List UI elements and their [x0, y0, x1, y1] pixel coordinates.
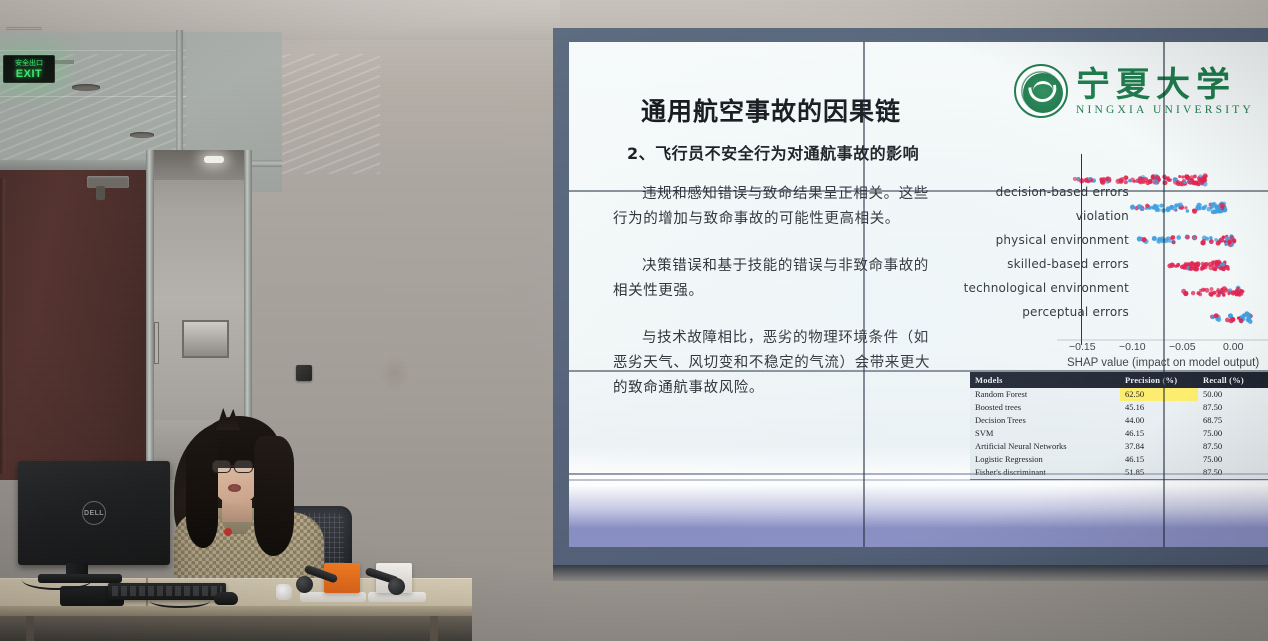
video-wall-display[interactable]: 宁夏大学 NINGXIA UNIVERSITY 通用航空事故的因果链 2、飞行员…	[569, 42, 1268, 547]
cell-model: Boosted trees	[970, 401, 1120, 414]
exit-sign: 安全出口 EXIT	[3, 55, 55, 83]
cell-precision: 62.50	[1120, 388, 1198, 401]
video-wall-seam	[569, 370, 1268, 372]
table-row: Decision Trees44.0068.75	[970, 414, 1268, 427]
column-header-recall: Recall (%)	[1198, 372, 1268, 388]
ceiling-vent	[6, 27, 42, 31]
cell-recall: 68.75	[1198, 414, 1268, 427]
wall-outlet	[296, 365, 312, 381]
slide-subtitle: 2、飞行员不安全行为对通航事故的影响	[627, 140, 919, 164]
exit-sign-bracket	[52, 60, 74, 64]
wall-mark	[380, 355, 410, 391]
slide-title: 通用航空事故的因果链	[641, 92, 901, 128]
dell-monitor[interactable]: DELL	[18, 461, 170, 565]
shap-zero-guide	[1081, 154, 1082, 345]
table-row: Random Forest62.5050.00	[970, 388, 1268, 401]
mouse[interactable]	[214, 592, 238, 605]
table-row: Artificial Neural Networks37.8487.50	[970, 440, 1268, 453]
cell-recall: 75.00	[1198, 453, 1268, 466]
desk-front-panel	[0, 616, 472, 641]
slide-body-text: 违规和感知错误与致命结果呈正相关。这些行为的增加与致命事故的可能性更高相关。 决…	[613, 182, 933, 423]
cable	[22, 570, 92, 590]
shap-xtick: −0.05	[1169, 341, 1196, 353]
cell-recall: 50.00	[1198, 388, 1268, 401]
shap-xtick: 0.00	[1223, 341, 1243, 353]
cell-precision: 37.84	[1120, 440, 1198, 453]
cell-precision: 46.15	[1120, 427, 1198, 440]
glasses-icon	[212, 460, 231, 473]
table-row: SVM46.1575.00	[970, 427, 1268, 440]
cell-model: Logistic Regression	[970, 453, 1120, 466]
slide-paragraph-3: 与技术故障相比，恶劣的物理环境条件（如恶劣天气、风切变和不稳定的气流）会带来更大…	[613, 326, 933, 401]
exit-sign-chinese-label: 安全出口	[15, 59, 43, 68]
corridor-lamp	[204, 156, 224, 163]
cell-model: Artificial Neural Networks	[970, 440, 1120, 453]
cable	[150, 594, 210, 608]
room-door[interactable]	[0, 170, 150, 480]
table-header-row: Models Precision (%) Recall (%)	[970, 372, 1268, 388]
microphone-pad	[300, 592, 366, 602]
cell-model: Random Forest	[970, 388, 1120, 401]
door-closer-arm	[96, 186, 105, 200]
cell-precision: 46.15	[1120, 453, 1198, 466]
ceiling-light	[72, 84, 100, 91]
dell-logo-icon: DELL	[82, 501, 106, 525]
table-row: Boosted trees45.1687.50	[970, 401, 1268, 414]
video-wall-base-shadow	[553, 565, 1268, 581]
table-row: Logistic Regression46.1575.00	[970, 453, 1268, 466]
microphone-head[interactable]	[296, 576, 313, 593]
cell-precision: 45.16	[1120, 401, 1198, 414]
model-results-table: Models Precision (%) Recall (%) Random F…	[970, 372, 1268, 480]
lapel-microphone	[224, 528, 232, 536]
door-closer	[87, 176, 129, 188]
cell-recall: 87.50	[1198, 440, 1268, 453]
ceiling-light	[130, 132, 154, 138]
slide-paragraph-2: 决策错误和基于技能的错误与非致命事故的相关性更强。	[613, 254, 933, 304]
video-wall-seam	[1163, 42, 1165, 547]
video-wall-seam	[569, 190, 1268, 192]
microphone-head[interactable]	[388, 578, 405, 595]
university-logo: 宁夏大学 NINGXIA UNIVERSITY	[1014, 64, 1254, 118]
cell-recall: 87.50	[1198, 401, 1268, 414]
framed-picture	[182, 320, 229, 358]
framed-picture-small	[154, 322, 159, 364]
column-header-precision: Precision (%)	[1120, 372, 1198, 388]
partition-post	[146, 150, 154, 482]
glasses-icon	[234, 460, 253, 473]
cell-model: SVM	[970, 427, 1120, 440]
cell-model: Decision Trees	[970, 414, 1120, 427]
conference-room-scene: 安全出口 EXIT 宁夏大学 NINGXIA UNIVERSITY	[0, 0, 1268, 641]
door-edge	[0, 178, 5, 474]
video-wall-seam	[863, 42, 865, 547]
exit-sign-english-label: EXIT	[16, 68, 42, 80]
column-header-models: Models	[970, 372, 1120, 388]
video-wall-frame: 宁夏大学 NINGXIA UNIVERSITY 通用航空事故的因果链 2、飞行员…	[553, 28, 1268, 565]
cell-precision: 44.00	[1120, 414, 1198, 427]
ningxia-university-emblem-icon	[1014, 64, 1068, 118]
shap-xtick: −0.10	[1119, 341, 1146, 353]
desk-object	[276, 584, 292, 600]
shap-xtick: −0.15	[1069, 341, 1096, 353]
cell-recall: 75.00	[1198, 427, 1268, 440]
